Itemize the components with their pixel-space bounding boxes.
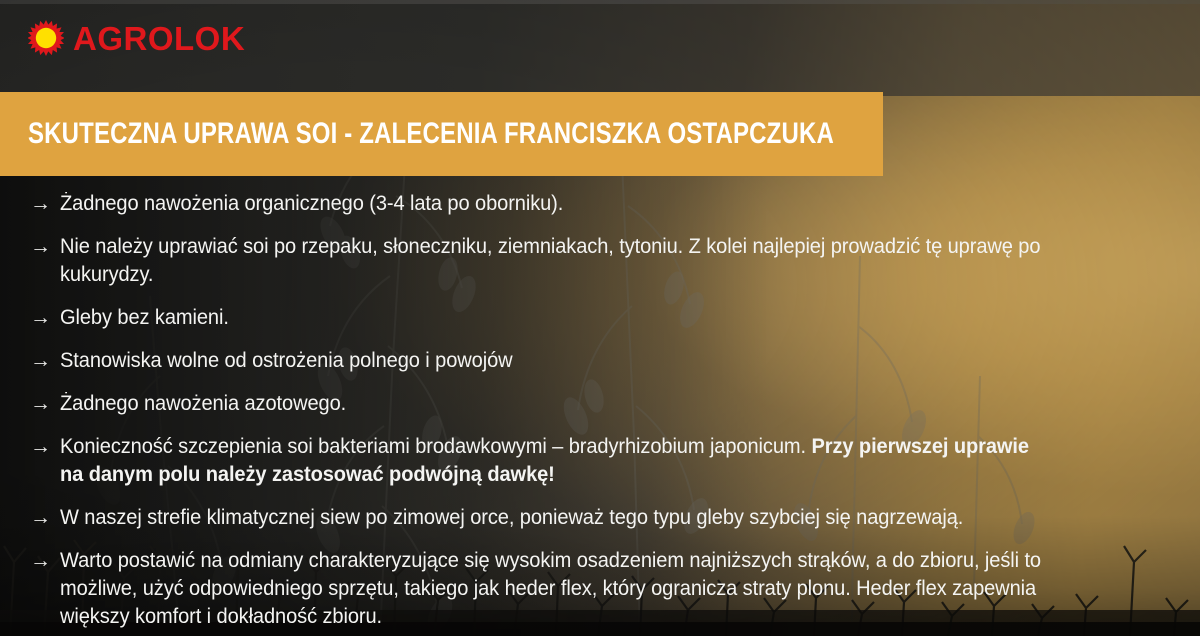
arrow-icon: →: [30, 433, 60, 461]
list-item-text: Gleby bez kamieni.: [60, 304, 1044, 332]
list-item: → W naszej strefie klimatycznej siew po …: [30, 504, 1090, 532]
sun-burst-icon: [28, 20, 64, 56]
list-item-text: Stanowiska wolne od ostrożenia polnego i…: [60, 347, 1044, 375]
brand-name: AGROLOK: [73, 22, 245, 55]
list-item-text: Żadnego nawożenia azotowego.: [60, 390, 1044, 418]
arrow-icon: →: [30, 347, 60, 375]
list-item-text: Warto postawić na odmiany charakteryzują…: [60, 547, 1044, 631]
arrow-icon: →: [30, 547, 60, 575]
list-item: → Nie należy uprawiać soi po rzepaku, sł…: [30, 233, 1090, 289]
list-item-text: Konieczność szczepienia soi bakteriami b…: [60, 433, 1044, 489]
arrow-icon: →: [30, 504, 60, 532]
brand-logo[interactable]: AGROLOK: [28, 20, 245, 56]
arrow-icon: →: [30, 390, 60, 418]
list-item: → Warto postawić na odmiany charakteryzu…: [30, 547, 1090, 631]
arrow-icon: →: [30, 304, 60, 332]
recommendations-list: → Żadnego nawożenia organicznego (3-4 la…: [30, 190, 1090, 636]
list-item-text: W naszej strefie klimatycznej siew po zi…: [60, 504, 1044, 532]
list-item: → Stanowiska wolne od ostrożenia polnego…: [30, 347, 1090, 375]
page-title: SKUTECZNA UPRAWA SOI - ZALECENIA FRANCIS…: [28, 117, 834, 151]
list-item-text: Żadnego nawożenia organicznego (3-4 lata…: [60, 190, 1044, 218]
list-item: → Gleby bez kamieni.: [30, 304, 1090, 332]
list-item: → Żadnego nawożenia organicznego (3-4 la…: [30, 190, 1090, 218]
arrow-icon: →: [30, 190, 60, 218]
arrow-icon: →: [30, 233, 60, 261]
list-item-text: Nie należy uprawiać soi po rzepaku, słon…: [60, 233, 1044, 289]
title-banner: SKUTECZNA UPRAWA SOI - ZALECENIA FRANCIS…: [0, 92, 883, 176]
list-item: → Konieczność szczepienia soi bakteriami…: [30, 433, 1090, 489]
poster-canvas: AGROLOK SKUTECZNA UPRAWA SOI - ZALECENIA…: [0, 0, 1200, 636]
list-item: → Żadnego nawożenia azotowego.: [30, 390, 1090, 418]
